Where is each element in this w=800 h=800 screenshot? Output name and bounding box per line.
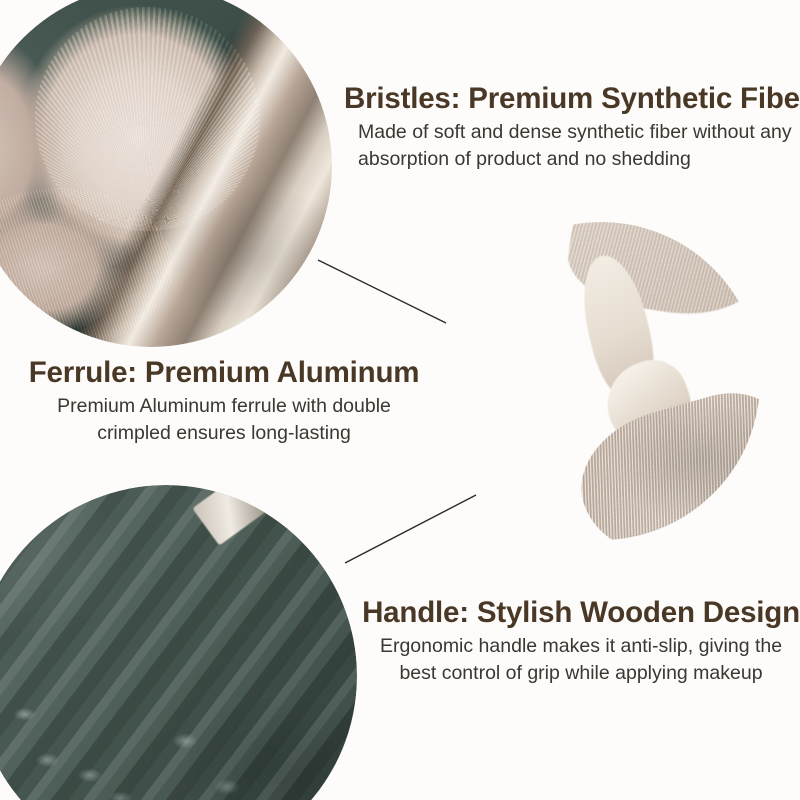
connector-bristles-to-ferrule	[318, 260, 446, 323]
brush-ferrule-closeup-photo	[442, 222, 760, 540]
brush-handles-closeup-photo	[0, 485, 357, 800]
feature-text-handle: Handle: Stylish Wooden Design Ergonomic …	[362, 596, 800, 687]
feature-text-ferrule: Ferrule: Premium Aluminum Premium Alumin…	[18, 356, 430, 447]
feature-heading-handle: Handle: Stylish Wooden Design	[362, 596, 800, 629]
product-feature-infographic: Bristles: Premium Synthetic Fiber Made o…	[0, 0, 800, 800]
feature-heading-ferrule: Ferrule: Premium Aluminum	[18, 356, 430, 389]
feature-heading-bristles: Bristles: Premium Synthetic Fiber	[344, 82, 800, 115]
brush-bristles-closeup-photo	[0, 0, 332, 347]
connector-handles-to-ferrule	[345, 495, 476, 563]
feature-body-bristles: Made of soft and dense synthetic fiber w…	[344, 119, 800, 173]
feature-body-handle: Ergonomic handle makes it anti-slip, giv…	[362, 633, 800, 687]
feature-body-ferrule: Premium Aluminum ferrule with double cri…	[18, 393, 430, 447]
feature-text-bristles: Bristles: Premium Synthetic Fiber Made o…	[344, 82, 800, 173]
handle-rod-tips	[0, 485, 357, 800]
